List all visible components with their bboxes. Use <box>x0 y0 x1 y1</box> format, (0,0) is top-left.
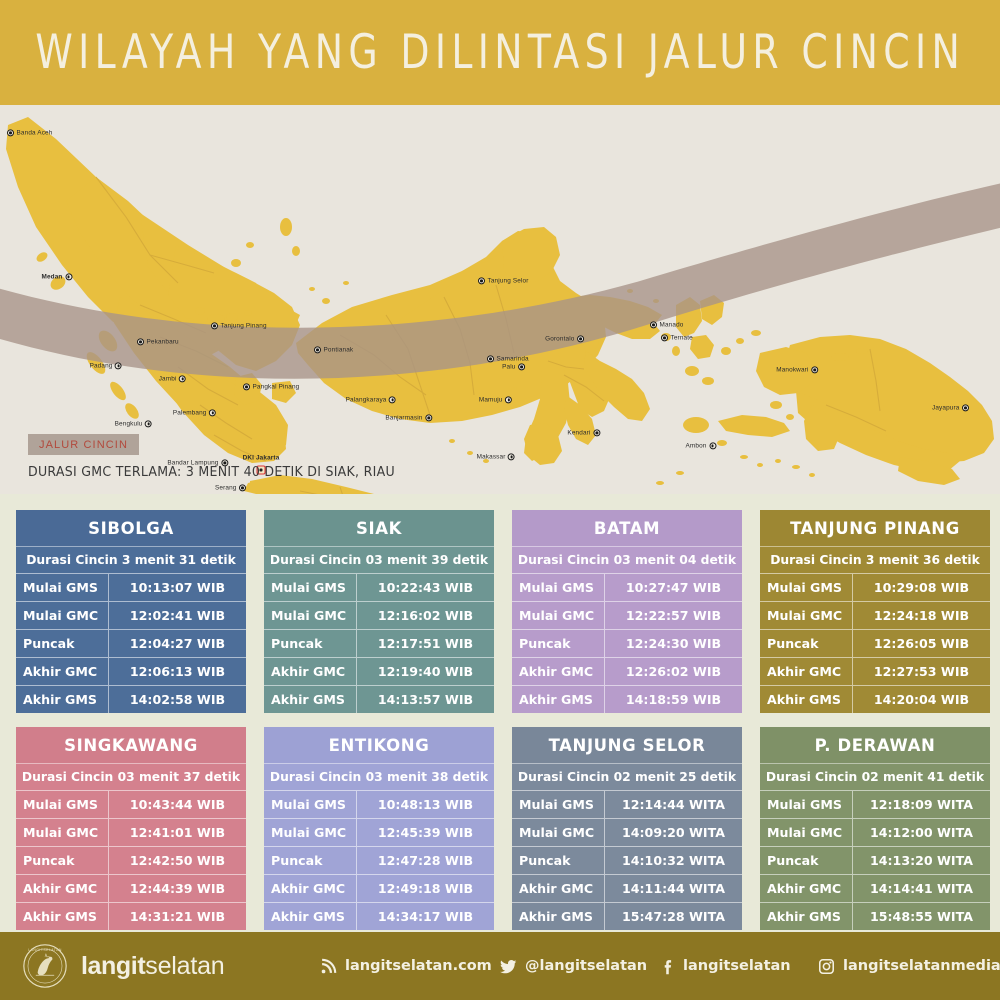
city-timing-cards: SIBOLGADurasi Cincin 3 menit 31 detikMul… <box>0 494 1000 927</box>
city-name: Tanjung Selor <box>488 277 529 284</box>
city-name: Banda Aceh <box>17 129 53 136</box>
map-city-label: Samarinda <box>487 355 529 362</box>
card-row: Puncak12:17:51 WIB <box>264 629 494 657</box>
map-city-label: Manokwari <box>776 366 818 373</box>
map-city-label: Ambon <box>686 442 717 449</box>
card-row: Akhir GMS14:20:04 WIB <box>760 685 990 713</box>
map-city-label: Palangkaraya <box>346 396 396 403</box>
row-value: 10:13:07 WIB <box>108 574 246 601</box>
map-city-label: Jambi <box>159 375 186 382</box>
row-label: Puncak <box>16 847 108 874</box>
timing-card: ENTIKONGDurasi Cincin 03 menit 38 detikM… <box>264 727 494 930</box>
map-city-label: Manado <box>650 321 684 328</box>
row-label: Puncak <box>512 847 604 874</box>
langitselatan-seal-icon: LANGITSELATAN <box>22 943 68 989</box>
card-row: Puncak14:13:20 WITA <box>760 846 990 874</box>
city-name: Makassar <box>477 453 506 460</box>
card-row: Akhir GMC12:06:13 WIB <box>16 657 246 685</box>
link-twitter[interactable]: @langitselatan <box>500 958 647 975</box>
card-row: Akhir GMC12:26:02 WIB <box>512 657 742 685</box>
row-label: Mulai GMS <box>760 574 852 601</box>
row-value: 14:31:21 WIB <box>108 903 246 930</box>
card-row: Puncak12:47:28 WIB <box>264 846 494 874</box>
timing-card: TANJUNG PINANGDurasi Cincin 3 menit 36 d… <box>760 510 990 713</box>
row-label: Puncak <box>264 630 356 657</box>
city-marker-icon <box>487 355 494 362</box>
timing-card: SINGKAWANGDurasi Cincin 03 menit 37 deti… <box>16 727 246 930</box>
map-city-label: Pekanbaru <box>137 338 179 345</box>
row-label: Puncak <box>264 847 356 874</box>
row-label: Mulai GMS <box>512 791 604 818</box>
row-label: Akhir GMC <box>264 658 356 685</box>
row-value: 12:47:28 WIB <box>356 847 494 874</box>
city-marker-icon <box>577 335 584 342</box>
city-name: Tanjung Pinang <box>221 322 267 329</box>
brand-light: selatan <box>145 952 224 980</box>
row-label: Akhir GMC <box>512 875 604 902</box>
city-marker-icon <box>314 346 321 353</box>
card-row: Akhir GMS15:47:28 WITA <box>512 902 742 930</box>
row-label: Mulai GMC <box>264 819 356 846</box>
city-name: Palu <box>502 363 515 370</box>
row-label: Mulai GMS <box>16 791 108 818</box>
city-marker-icon <box>211 322 218 329</box>
timing-card: SIBOLGADurasi Cincin 3 menit 31 detikMul… <box>16 510 246 713</box>
row-label: Akhir GMS <box>512 686 604 713</box>
city-name: Padang <box>90 362 113 369</box>
timing-card: TANJUNG SELORDurasi Cincin 02 menit 25 d… <box>512 727 742 930</box>
card-row: Mulai GMS10:48:13 WIB <box>264 790 494 818</box>
city-marker-icon <box>425 414 432 421</box>
row-value: 10:48:13 WIB <box>356 791 494 818</box>
city-marker-icon <box>137 338 144 345</box>
map-city-label: Mamuju <box>479 396 512 403</box>
row-value: 14:11:44 WITA <box>604 875 742 902</box>
city-name: Mamuju <box>479 396 503 403</box>
row-value: 10:43:44 WIB <box>108 791 246 818</box>
city-name: DKI Jakarta <box>243 455 280 462</box>
card-row: Akhir GMS14:34:17 WIB <box>264 902 494 930</box>
row-value: 12:49:18 WIB <box>356 875 494 902</box>
row-label: Akhir GMC <box>16 875 108 902</box>
city-marker-icon <box>508 453 515 460</box>
link-twitter-label: @langitselatan <box>525 958 647 974</box>
row-value: 14:09:20 WITA <box>604 819 742 846</box>
map-city-label: Serang <box>215 484 246 491</box>
city-name: Jambi <box>159 375 177 382</box>
row-value: 10:29:08 WIB <box>852 574 990 601</box>
city-marker-icon <box>145 420 152 427</box>
row-value: 14:34:17 WIB <box>356 903 494 930</box>
map-graphic <box>0 105 1000 494</box>
row-value: 14:13:20 WITA <box>852 847 990 874</box>
row-value: 14:14:41 WITA <box>852 875 990 902</box>
row-value: 12:14:44 WITA <box>604 791 742 818</box>
link-website[interactable]: langitselatan.com <box>320 958 492 975</box>
card-row: Mulai GMC12:24:18 WIB <box>760 601 990 629</box>
card-duration: Durasi Cincin 02 menit 25 detik <box>512 763 742 790</box>
card-title: BATAM <box>512 510 742 546</box>
city-marker-icon <box>389 396 396 403</box>
map-city-label: Tanjung Pinang <box>211 322 267 329</box>
card-row: Mulai GMC14:12:00 WITA <box>760 818 990 846</box>
row-value: 12:26:02 WIB <box>604 658 742 685</box>
legend-jalur-cincin: JALUR CINCIN <box>28 434 139 455</box>
map-city-label: Medan <box>42 273 73 280</box>
city-name: Ternate <box>671 334 693 341</box>
city-marker-icon <box>661 334 668 341</box>
card-row: Puncak12:42:50 WIB <box>16 846 246 874</box>
map-city-label: Banjarmasin <box>385 414 432 421</box>
card-title: ENTIKONG <box>264 727 494 763</box>
brand-wordmark: langitselatan <box>81 954 224 979</box>
map-city-label: Jayapura <box>932 404 969 411</box>
city-marker-icon <box>243 383 250 390</box>
card-row: Akhir GMS14:31:21 WIB <box>16 902 246 930</box>
row-value: 14:02:58 WIB <box>108 686 246 713</box>
row-value: 12:02:41 WIB <box>108 602 246 629</box>
row-label: Akhir GMS <box>16 686 108 713</box>
brand-logo: LANGITSELATAN langitselatan <box>22 943 224 989</box>
card-row: Puncak12:26:05 WIB <box>760 629 990 657</box>
card-row: Mulai GMS10:29:08 WIB <box>760 573 990 601</box>
city-name: Palangkaraya <box>346 396 387 403</box>
card-duration: Durasi Cincin 03 menit 04 detik <box>512 546 742 573</box>
row-label: Akhir GMS <box>264 903 356 930</box>
row-value: 12:17:51 WIB <box>356 630 494 657</box>
row-label: Mulai GMC <box>16 602 108 629</box>
city-name: Kendari <box>567 429 590 436</box>
map-city-label: Padang <box>90 362 122 369</box>
row-label: Akhir GMS <box>512 903 604 930</box>
row-value: 10:22:43 WIB <box>356 574 494 601</box>
row-label: Mulai GMC <box>512 819 604 846</box>
row-label: Akhir GMC <box>760 875 852 902</box>
link-instagram-label: langitselatanmedia <box>843 958 1000 974</box>
card-row: Mulai GMS12:18:09 WITA <box>760 790 990 818</box>
row-label: Mulai GMS <box>264 574 356 601</box>
row-value: 12:24:18 WIB <box>852 602 990 629</box>
row-value: 12:19:40 WIB <box>356 658 494 685</box>
card-row: Mulai GMC14:09:20 WITA <box>512 818 742 846</box>
seal-text: LANGITSELATAN <box>28 948 62 952</box>
timing-card: P. DERAWANDurasi Cincin 02 menit 41 deti… <box>760 727 990 930</box>
page-title: WILAYAH YANG DILINTASI JALUR CINCIN <box>35 25 965 80</box>
card-duration: Durasi Cincin 03 menit 38 detik <box>264 763 494 790</box>
map-caption: DURASI GMC TERLAMA: 3 MENIT 40 DETIK DI … <box>28 464 395 480</box>
card-duration: Durasi Cincin 03 menit 37 detik <box>16 763 246 790</box>
row-label: Puncak <box>760 630 852 657</box>
card-title: TANJUNG SELOR <box>512 727 742 763</box>
card-row: Puncak14:10:32 WITA <box>512 846 742 874</box>
row-label: Mulai GMS <box>760 791 852 818</box>
card-row: Mulai GMS12:14:44 WITA <box>512 790 742 818</box>
row-label: Akhir GMC <box>760 658 852 685</box>
city-name: Serang <box>215 484 237 491</box>
row-value: 12:26:05 WIB <box>852 630 990 657</box>
instagram-icon <box>818 958 835 975</box>
city-marker-icon <box>179 375 186 382</box>
row-value: 12:41:01 WIB <box>108 819 246 846</box>
card-duration: Durasi Cincin 02 menit 41 detik <box>760 763 990 790</box>
card-row: Puncak12:24:30 WIB <box>512 629 742 657</box>
card-row: Mulai GMC12:41:01 WIB <box>16 818 246 846</box>
city-marker-icon <box>709 442 716 449</box>
city-marker-icon <box>650 321 657 328</box>
city-marker-icon <box>811 366 818 373</box>
map-city-label: Pontianak <box>314 346 353 353</box>
city-name: Samarinda <box>497 355 529 362</box>
map-city-label: Ternate <box>661 334 693 341</box>
row-value: 12:04:27 WIB <box>108 630 246 657</box>
city-name: Palembang <box>173 409 207 416</box>
city-name: Ambon <box>686 442 707 449</box>
card-row: Akhir GMC14:11:44 WITA <box>512 874 742 902</box>
card-row: Akhir GMC12:49:18 WIB <box>264 874 494 902</box>
row-value: 12:24:30 WIB <box>604 630 742 657</box>
row-value: 10:27:47 WIB <box>604 574 742 601</box>
card-row: Akhir GMC12:19:40 WIB <box>264 657 494 685</box>
map-city-label: Kendari <box>567 429 600 436</box>
city-marker-icon <box>209 409 216 416</box>
city-name: Bengkulu <box>115 420 143 427</box>
card-row: Mulai GMS10:43:44 WIB <box>16 790 246 818</box>
card-row: Puncak12:04:27 WIB <box>16 629 246 657</box>
map-city-label: Bengkulu <box>115 420 152 427</box>
link-facebook[interactable]: langitselatan <box>658 958 791 975</box>
row-label: Puncak <box>512 630 604 657</box>
row-label: Akhir GMS <box>264 686 356 713</box>
row-label: Mulai GMC <box>16 819 108 846</box>
card-title: SINGKAWANG <box>16 727 246 763</box>
row-label: Mulai GMC <box>512 602 604 629</box>
row-value: 12:44:39 WIB <box>108 875 246 902</box>
card-row: Akhir GMC12:27:53 WIB <box>760 657 990 685</box>
row-value: 12:06:13 WIB <box>108 658 246 685</box>
city-name: Pangkal Pinang <box>253 383 300 390</box>
row-label: Mulai GMC <box>264 602 356 629</box>
city-name: Medan <box>42 273 63 280</box>
card-row: Mulai GMS10:13:07 WIB <box>16 573 246 601</box>
timing-card: SIAKDurasi Cincin 03 menit 39 detikMulai… <box>264 510 494 713</box>
footer-bar: LANGITSELATAN langitselatan langitselata… <box>0 932 1000 1000</box>
rss-icon <box>320 958 337 975</box>
city-marker-icon <box>962 404 969 411</box>
indonesia-map: Banda AcehMedanTanjung PinangPekanbaruPa… <box>0 105 1000 494</box>
row-value: 14:13:57 WIB <box>356 686 494 713</box>
city-name: Manado <box>660 321 684 328</box>
row-label: Akhir GMC <box>16 658 108 685</box>
row-value: 14:18:59 WIB <box>604 686 742 713</box>
city-marker-icon <box>593 429 600 436</box>
city-name: Gorontalo <box>545 335 574 342</box>
city-name: Pontianak <box>324 346 354 353</box>
city-marker-icon <box>239 484 246 491</box>
city-marker-icon <box>65 273 72 280</box>
row-value: 12:42:50 WIB <box>108 847 246 874</box>
row-value: 14:10:32 WITA <box>604 847 742 874</box>
card-title: SIAK <box>264 510 494 546</box>
row-value: 12:16:02 WIB <box>356 602 494 629</box>
brand-bold: langit <box>81 952 145 980</box>
card-row: Mulai GMC12:22:57 WIB <box>512 601 742 629</box>
card-title: SIBOLGA <box>16 510 246 546</box>
card-row: Akhir GMS14:13:57 WIB <box>264 685 494 713</box>
card-title: P. DERAWAN <box>760 727 990 763</box>
link-website-label: langitselatan.com <box>345 958 492 974</box>
city-name: Banjarmasin <box>385 414 422 421</box>
city-name: Pekanbaru <box>147 338 179 345</box>
row-label: Mulai GMC <box>760 602 852 629</box>
row-value: 12:18:09 WITA <box>852 791 990 818</box>
card-row: Akhir GMC12:44:39 WIB <box>16 874 246 902</box>
row-label: Puncak <box>760 847 852 874</box>
map-city-label: Palu <box>502 363 525 370</box>
infographic-page: WILAYAH YANG DILINTASI JALUR CINCIN <box>0 0 1000 1000</box>
row-label: Puncak <box>16 630 108 657</box>
row-label: Mulai GMS <box>512 574 604 601</box>
facebook-icon <box>658 958 675 975</box>
city-marker-icon <box>7 129 14 136</box>
card-row: Mulai GMC12:02:41 WIB <box>16 601 246 629</box>
timing-card: BATAMDurasi Cincin 03 menit 04 detikMula… <box>512 510 742 713</box>
map-city-label: Makassar <box>477 453 515 460</box>
card-row: Akhir GMS14:18:59 WIB <box>512 685 742 713</box>
card-row: Mulai GMC12:45:39 WIB <box>264 818 494 846</box>
city-name: Manokwari <box>776 366 808 373</box>
card-row: Akhir GMS14:02:58 WIB <box>16 685 246 713</box>
row-value: 12:22:57 WIB <box>604 602 742 629</box>
row-label: Akhir GMC <box>512 658 604 685</box>
row-value: 15:47:28 WITA <box>604 903 742 930</box>
city-marker-icon <box>505 396 512 403</box>
link-instagram[interactable]: langitselatanmedia <box>818 958 1000 975</box>
card-duration: Durasi Cincin 3 menit 31 detik <box>16 546 246 573</box>
city-marker-icon <box>518 363 525 370</box>
card-title: TANJUNG PINANG <box>760 510 990 546</box>
card-row: Mulai GMS10:22:43 WIB <box>264 573 494 601</box>
link-facebook-label: langitselatan <box>683 958 791 974</box>
row-label: Mulai GMS <box>16 574 108 601</box>
row-label: Mulai GMS <box>264 791 356 818</box>
row-value: 14:12:00 WITA <box>852 819 990 846</box>
map-city-label: Tanjung Selor <box>478 277 529 284</box>
header-banner: WILAYAH YANG DILINTASI JALUR CINCIN <box>0 0 1000 105</box>
map-city-label: Gorontalo <box>545 335 584 342</box>
city-marker-icon <box>478 277 485 284</box>
card-row: Mulai GMS10:27:47 WIB <box>512 573 742 601</box>
row-label: Akhir GMS <box>16 903 108 930</box>
row-value: 14:20:04 WIB <box>852 686 990 713</box>
map-city-label: Banda Aceh <box>7 129 52 136</box>
row-label: Akhir GMS <box>760 686 852 713</box>
row-label: Mulai GMC <box>760 819 852 846</box>
twitter-icon <box>500 958 517 975</box>
card-row: Akhir GMS15:48:55 WITA <box>760 902 990 930</box>
card-row: Mulai GMC12:16:02 WIB <box>264 601 494 629</box>
row-value: 12:27:53 WIB <box>852 658 990 685</box>
card-duration: Durasi Cincin 3 menit 36 detik <box>760 546 990 573</box>
row-value: 15:48:55 WITA <box>852 903 990 930</box>
city-marker-icon <box>115 362 122 369</box>
card-duration: Durasi Cincin 03 menit 39 detik <box>264 546 494 573</box>
row-label: Akhir GMS <box>760 903 852 930</box>
row-label: Akhir GMC <box>264 875 356 902</box>
map-city-label: Palembang <box>173 409 216 416</box>
city-name: Jayapura <box>932 404 960 411</box>
row-value: 12:45:39 WIB <box>356 819 494 846</box>
map-city-label: Pangkal Pinang <box>243 383 299 390</box>
card-row: Akhir GMC14:14:41 WITA <box>760 874 990 902</box>
